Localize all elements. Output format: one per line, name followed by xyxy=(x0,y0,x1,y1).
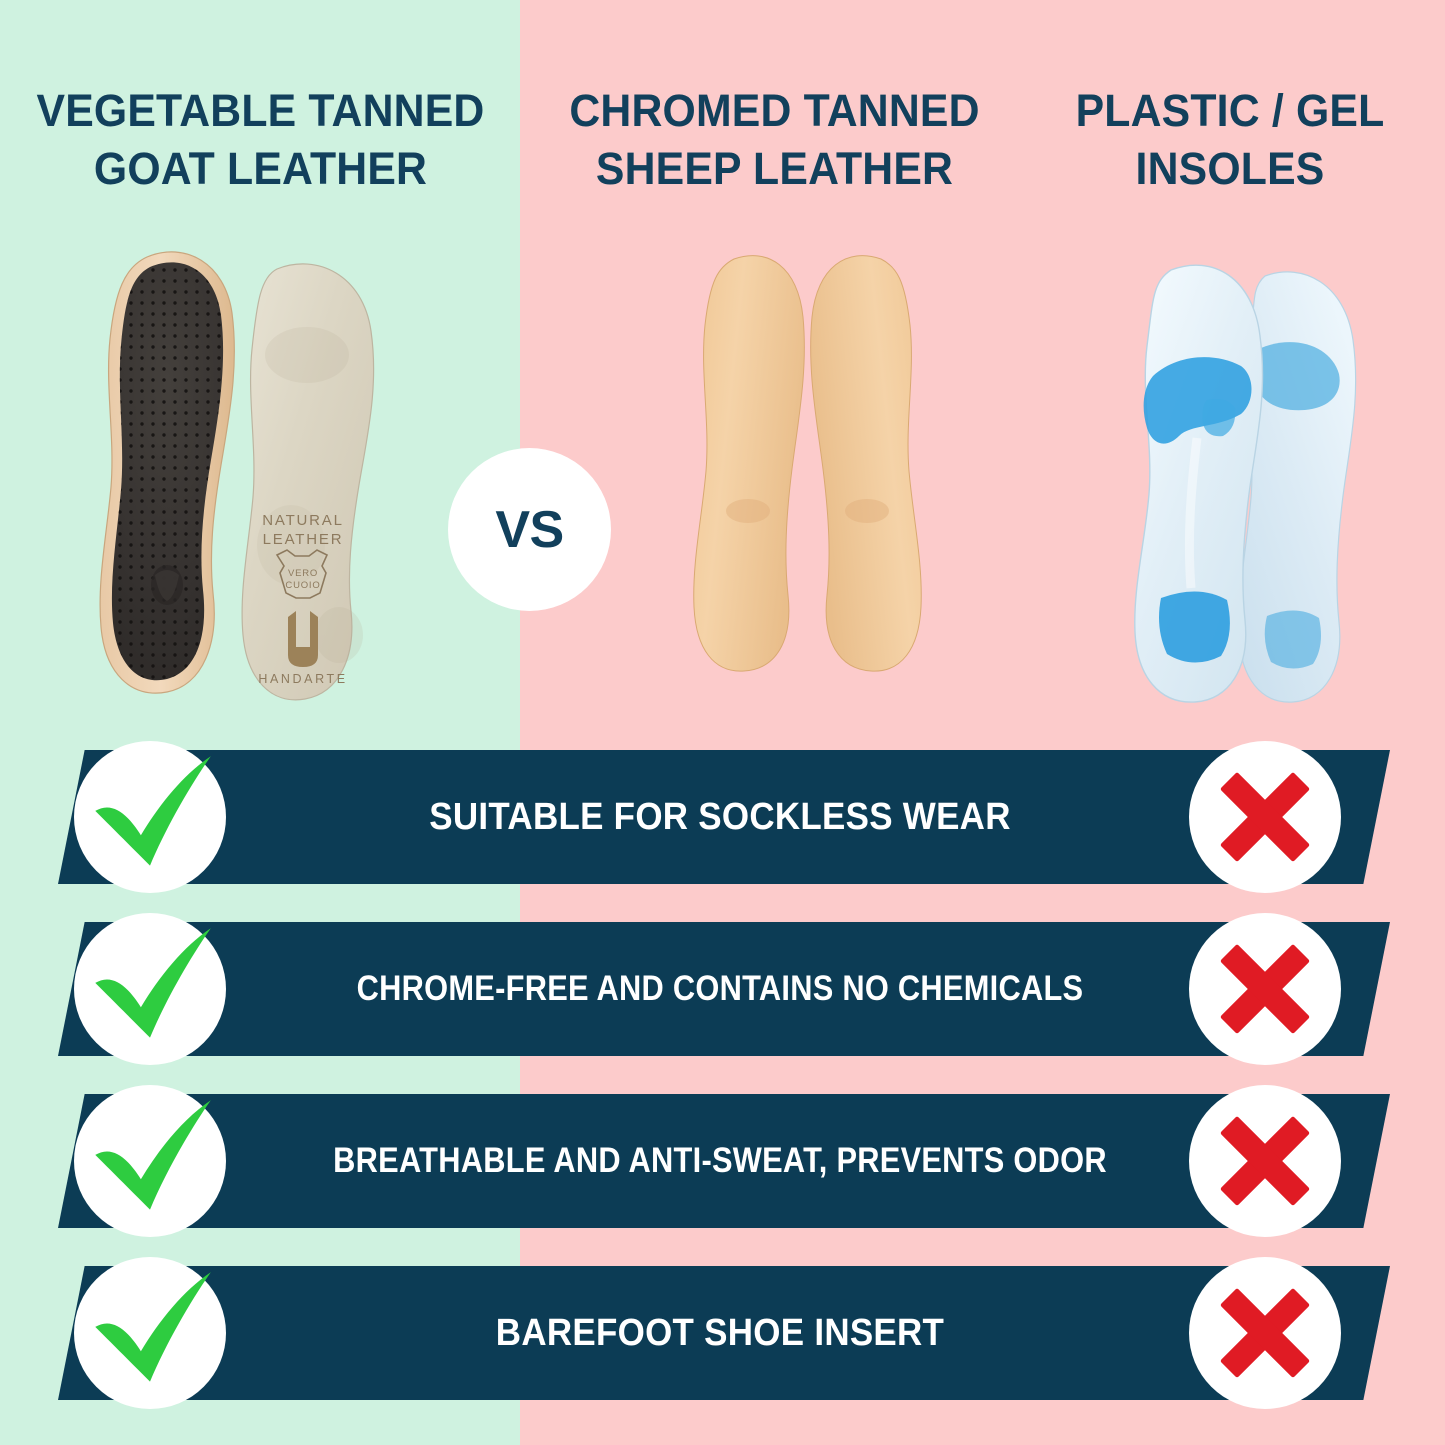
feature-row: SUITABLE FOR SOCKLESS WEAR xyxy=(0,732,1445,904)
feature-row: BAREFOOT SHOE INSERT xyxy=(0,1248,1445,1420)
product-image-plastic-gel-insoles xyxy=(1095,248,1385,708)
check-icon xyxy=(74,1085,226,1237)
feature-label: CHROME-FREE AND CONTAINS NO CHEMICALS xyxy=(298,922,1143,1056)
cross-icon xyxy=(1189,1257,1341,1409)
cross-icon xyxy=(1189,1085,1341,1237)
feature-label: BREATHABLE AND ANTI-SWEAT, PREVENTS ODOR xyxy=(298,1094,1143,1228)
comparison-infographic: VEGETABLE TANNED GOAT LEATHER CHROMED TA… xyxy=(0,0,1445,1445)
insole-shading-left xyxy=(726,499,770,523)
gel-pad-heel-back xyxy=(1265,610,1321,668)
feature-row: CHROME-FREE AND CONTAINS NO CHEMICALS xyxy=(0,904,1445,1076)
insole-brand-name: HANDARTE xyxy=(258,672,347,686)
vs-label: VS xyxy=(495,500,563,560)
column-heading-vegetable-tanned-goat-leather: VEGETABLE TANNED GOAT LEATHER xyxy=(21,82,501,197)
insole-stamp-badge-line2: CUOIO xyxy=(285,580,320,591)
product-image-chromed-tanned-sheep-leather xyxy=(690,245,925,675)
check-icon xyxy=(74,1257,226,1409)
insole-tan-left xyxy=(694,256,805,672)
feature-label: BAREFOOT SHOE INSERT xyxy=(278,1266,1161,1400)
insole-stamp-line1: NATURAL xyxy=(262,512,344,529)
insole-tan-right xyxy=(811,256,922,672)
feature-row: BREATHABLE AND ANTI-SWEAT, PREVENTS ODOR xyxy=(0,1076,1445,1248)
insole-stamp-line2: LEATHER xyxy=(263,531,344,548)
product-image-vegetable-tanned-goat-leather: NATURAL LEATHER VERO CUOIO HANDARTE xyxy=(95,245,400,705)
insole-shading-right xyxy=(845,499,889,523)
column-heading-chromed-tanned-sheep-leather: CHROMED TANNED SHEEP LEATHER xyxy=(539,82,1009,197)
feature-label: SUITABLE FOR SOCKLESS WEAR xyxy=(278,750,1161,884)
cross-icon xyxy=(1189,741,1341,893)
insole-stamp-badge-line1: VERO xyxy=(288,568,318,579)
cross-icon xyxy=(1189,913,1341,1065)
column-heading-plastic-gel-insoles: PLASTIC / GEL INSOLES xyxy=(1040,82,1420,197)
check-icon xyxy=(74,913,226,1065)
gel-pad-heel-front xyxy=(1159,591,1230,662)
check-icon xyxy=(74,741,226,893)
vs-badge: VS xyxy=(448,448,611,611)
